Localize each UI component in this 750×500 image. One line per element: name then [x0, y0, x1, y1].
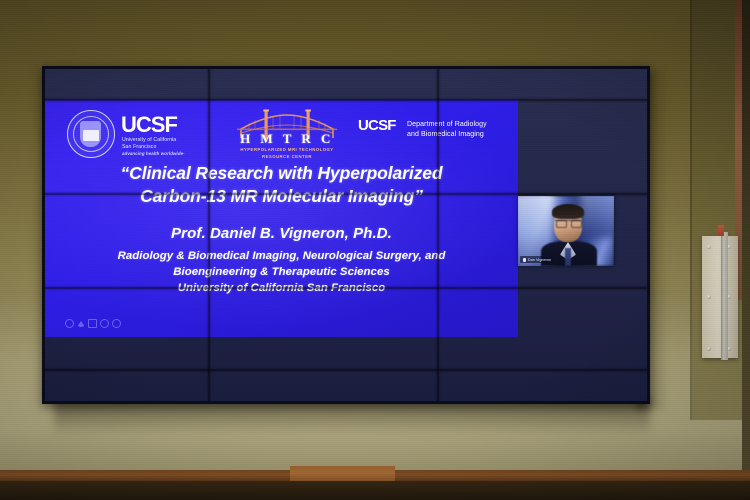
hmtrc-letters: H M T R C — [231, 131, 343, 147]
display-panel-grid: UCSF University of California San Franci… — [45, 69, 647, 401]
hmtrc-subline-2: RESOURCE CENTER — [231, 154, 343, 159]
ucsf-subline-1: University of California — [122, 137, 176, 144]
chair-rail-center-segment — [290, 466, 395, 482]
ucsf-wordmark: UCSF — [121, 114, 177, 136]
next-slide-icon[interactable] — [112, 319, 121, 328]
panel-screw — [707, 347, 711, 351]
panel-seam-horizontal-1 — [45, 99, 647, 101]
presenter-controls[interactable] — [65, 319, 121, 328]
panel-screw — [707, 295, 711, 299]
microphone-icon — [523, 258, 526, 262]
participant-tie — [565, 248, 571, 266]
glasses-left-lens — [556, 220, 567, 228]
ucsf-sublines: University of California San Francisco — [122, 137, 176, 151]
seal-book-emblem — [83, 130, 99, 141]
radiology-ucsf-wordmark: UCSF — [358, 118, 396, 133]
panel-screw — [707, 245, 711, 249]
slide-speaker-name: Prof. Daniel B. Vigneron, Ph.D. — [45, 225, 518, 242]
glasses-right-lens — [571, 220, 582, 228]
all-slides-icon[interactable] — [100, 319, 109, 328]
ucsf-tagline: advancing health worldwide· — [122, 151, 185, 156]
radiology-line-1: Department of Radiology — [407, 120, 487, 130]
previous-slide-icon[interactable] — [88, 319, 97, 328]
ucsf-seal-icon — [67, 110, 115, 158]
wall-corner-seam — [690, 0, 692, 420]
slide-title-line-2: Carbon-13 MR Molecular Imaging” — [45, 185, 518, 208]
wall-mounted-panel — [702, 236, 738, 358]
ucsf-subline-2: San Francisco — [122, 144, 176, 151]
affiliation-line-2: Bioengineering & Therapeutic Sciences — [45, 264, 518, 280]
video-background-right — [580, 196, 614, 238]
participant-name-label: Dan Vigneron — [528, 258, 551, 262]
panel-seam-vertical-1 — [208, 69, 210, 401]
radiology-dept-logo: UCSF Department of Radiology and Biomedi… — [358, 118, 508, 148]
panel-seam-horizontal-2 — [45, 193, 647, 195]
panel-top-marker — [718, 225, 724, 236]
slide-title: “Clinical Research with Hyperpolarized C… — [45, 162, 518, 208]
affiliation-line-1: Radiology & Biomedical Imaging, Neurolog… — [45, 248, 518, 264]
participant-name-badge: Dan Vigneron — [520, 256, 554, 263]
video-wall-display[interactable]: UCSF University of California San Franci… — [42, 66, 650, 404]
wall-edge-strip — [742, 0, 750, 500]
slide-affiliation: Radiology & Biomedical Imaging, Neurolog… — [45, 248, 518, 297]
panel-seam-vertical-2 — [437, 69, 439, 401]
slide-logo-row: UCSF University of California San Franci… — [45, 104, 518, 160]
panel-vertical-strip — [721, 232, 728, 360]
presentation-slide[interactable]: UCSF University of California San Franci… — [45, 100, 518, 337]
slide-title-line-1: “Clinical Research with Hyperpolarized — [45, 162, 518, 185]
hmtrc-logo: H M T R C HYPERPOLARIZED MRI TECHNOLOGY … — [231, 107, 343, 161]
room-scene: UCSF University of California San Franci… — [0, 0, 750, 500]
floor — [0, 481, 750, 500]
radiology-dept-text: Department of Radiology and Biomedical I… — [407, 120, 487, 140]
slideshow-options-icon[interactable] — [65, 319, 74, 328]
panel-seam-horizontal-4 — [45, 369, 647, 371]
pen-tool-icon[interactable] — [77, 321, 85, 327]
radiology-line-2: and Biomedical Imaging — [407, 130, 487, 140]
hmtrc-subline-1: HYPERPOLARIZED MRI TECHNOLOGY — [231, 147, 343, 152]
participant-hair — [552, 204, 584, 219]
video-conference-thumbnail[interactable]: Dan Vigneron — [518, 196, 614, 266]
panel-seam-horizontal-3 — [45, 287, 647, 289]
